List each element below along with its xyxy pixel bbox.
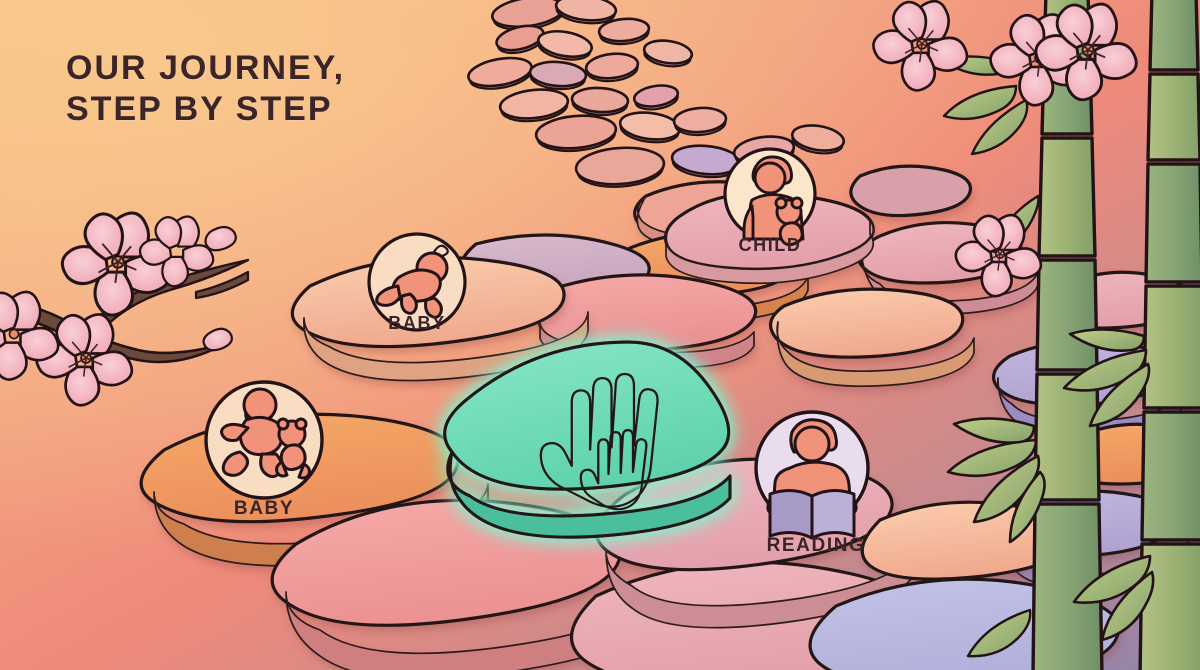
stone (771, 289, 974, 386)
stone (790, 122, 845, 157)
falling-petal (204, 329, 232, 351)
illustration-canvas: .o{stroke:#231316;stroke-linejoin:round;… (0, 0, 1200, 670)
scene-artwork: .o{stroke:#231316;stroke-linejoin:round;… (0, 0, 1200, 670)
stone (619, 109, 682, 145)
stone (575, 145, 665, 190)
milestone-badge-baby-crawling[interactable] (369, 234, 465, 330)
stone (529, 60, 587, 91)
stone (643, 38, 694, 69)
falling-petal (206, 227, 236, 250)
stone (571, 87, 628, 117)
cherry-blossom-branch (0, 213, 248, 405)
stone (466, 54, 534, 93)
stone (633, 83, 680, 112)
stone (673, 106, 727, 136)
bamboo-stalk (1140, 0, 1200, 670)
milestone-badge-baby-sitting[interactable] (206, 382, 322, 498)
stone (536, 27, 593, 63)
stone (585, 51, 639, 83)
blossom (873, 1, 967, 90)
milestone-badge-reading[interactable] (756, 412, 868, 538)
stone (851, 166, 971, 215)
